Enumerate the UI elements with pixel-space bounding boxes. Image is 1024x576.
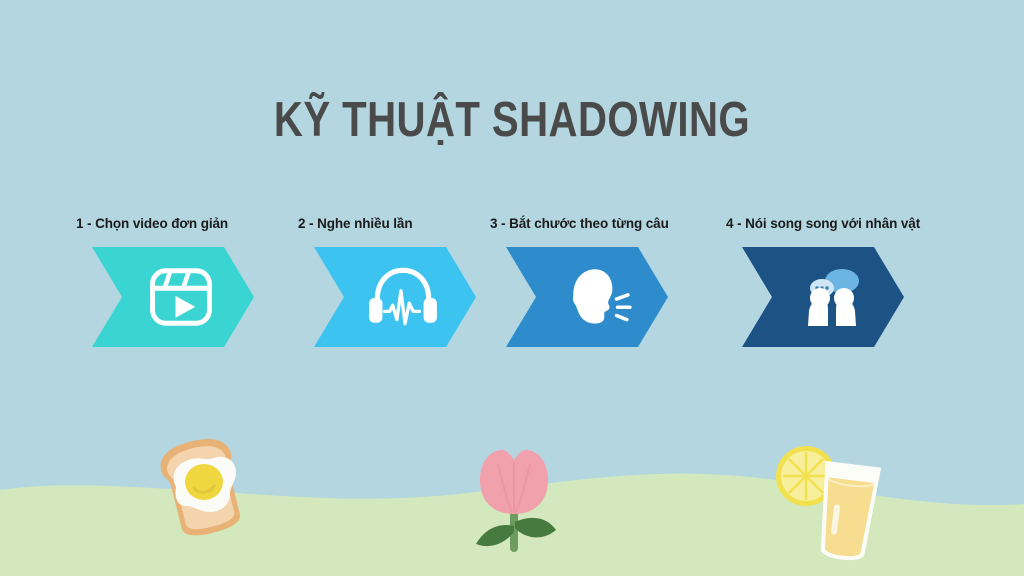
step-label-1: 1 - Chọn video đơn giản — [72, 215, 317, 233]
step-label-3: 3 - Bắt chước theo từng câu — [486, 215, 731, 233]
step-chevron-1 — [72, 247, 317, 347]
page-title: KỸ THUẬT SHADOWING — [92, 92, 932, 148]
steps-row: 1 - Chọn video đơn giản 2 - Nghe nhiều l… — [0, 215, 1024, 365]
step-chevron-4 — [722, 247, 967, 347]
pink-tulip-illustration — [452, 430, 577, 560]
step-item-4[interactable]: 4 - Nói song song với nhân vật — [722, 215, 967, 365]
lemonade-glass-illustration — [772, 436, 900, 562]
step-item-3[interactable]: 3 - Bắt chước theo từng câu — [486, 215, 731, 365]
toast-with-fried-egg-illustration — [132, 414, 272, 554]
step-label-4: 4 - Nói song song với nhân vật — [722, 215, 967, 233]
step-chevron-3 — [486, 247, 731, 347]
step-item-1[interactable]: 1 - Chọn video đơn giản — [72, 215, 317, 365]
